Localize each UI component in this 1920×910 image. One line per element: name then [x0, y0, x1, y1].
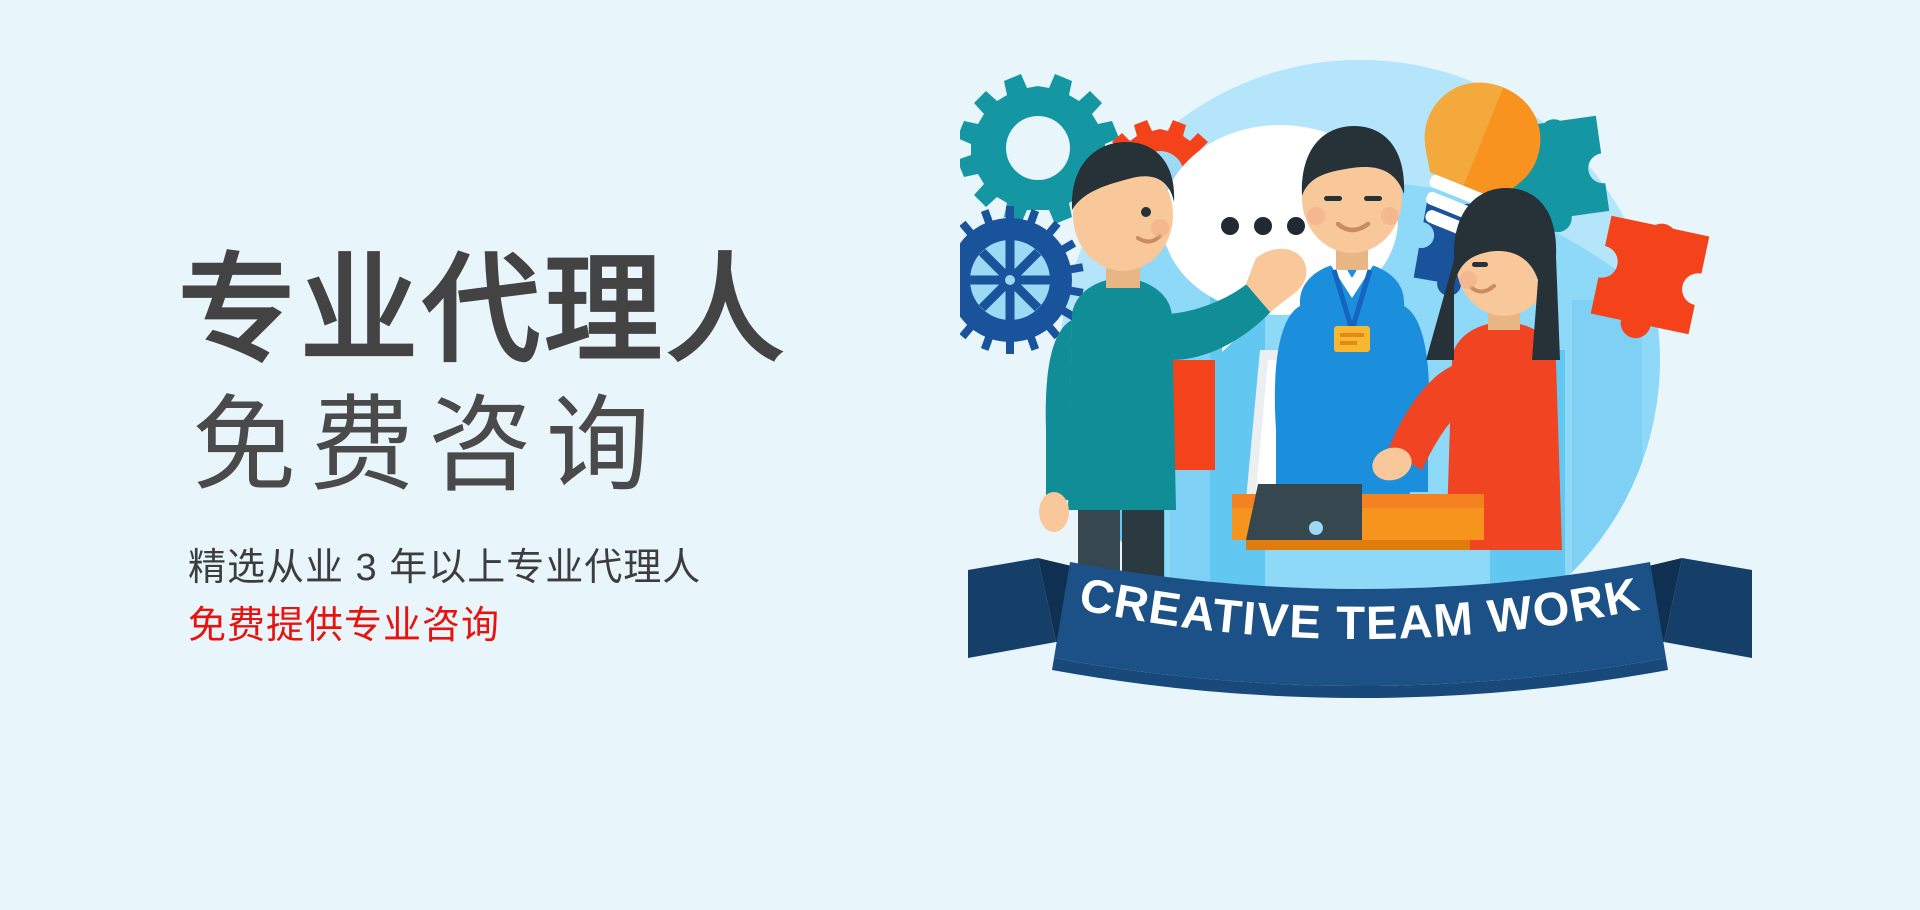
teamwork-illustration: CREATIVE TEAM WORK — [960, 30, 1760, 770]
headline-secondary: 免费咨询 — [192, 394, 938, 498]
headline-primary: 专业代理人 — [178, 252, 938, 370]
subtitle-line-1: 精选从业 3 年以上专业代理人 — [188, 542, 938, 594]
laptop-base — [1246, 484, 1362, 540]
subtitle-line-2: 免费提供专业咨询 — [188, 600, 938, 652]
city-block-4 — [1572, 300, 1642, 600]
banner-text-column: 专业代理人 免费咨询 精选从业 3 年以上专业代理人 免费提供专业咨询 — [178, 252, 938, 653]
promo-banner: 专业代理人 免费咨询 精选从业 3 年以上专业代理人 免费提供专业咨询 — [0, 0, 1920, 910]
